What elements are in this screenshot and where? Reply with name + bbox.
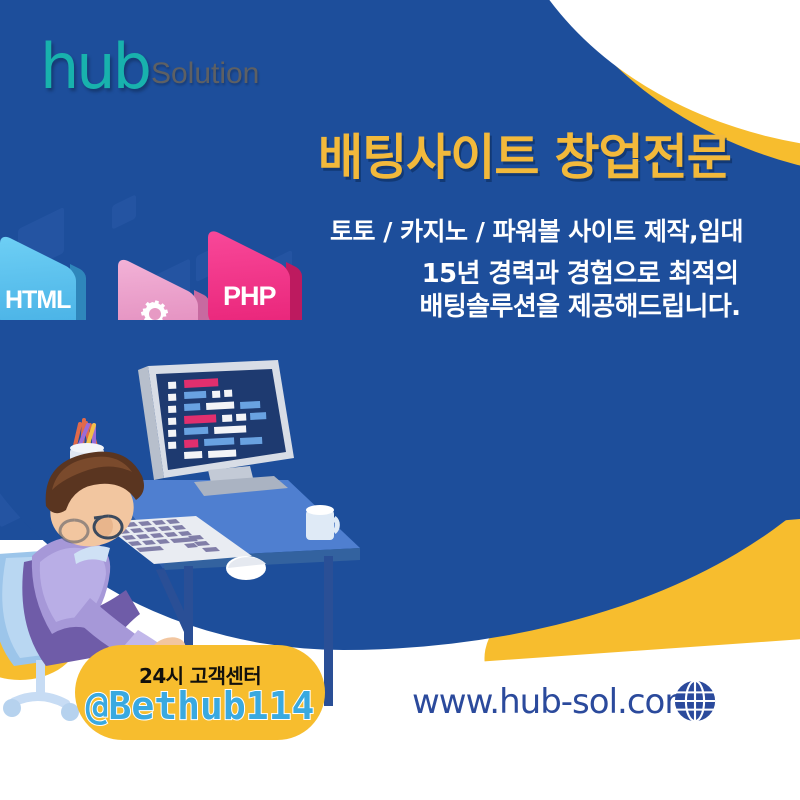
poster-canvas: hub Solution 배팅사이트 창업전문 토토 / 카지노 / 파워볼 사…: [0, 0, 800, 800]
logo-wordmark-solution: Solution: [151, 59, 259, 89]
deco-diamond: [112, 194, 136, 230]
contact-pill[interactable]: 24시 고객센터 @Bethub114: [75, 645, 325, 740]
globe-icon: [672, 678, 718, 724]
brand-logo: hub Solution: [40, 42, 259, 92]
website-url[interactable]: www.hub-sol.com: [412, 682, 696, 722]
pitch-text: 15년 경력과 경험으로 최적의 배팅솔루션을 제공해드립니다.: [370, 258, 790, 325]
tech-badge-label: HTML: [5, 285, 70, 314]
page-subtitle: 토토 / 카지노 / 파워볼 사이트 제작,임대: [330, 212, 790, 248]
tech-badge-label: PHP: [223, 281, 276, 312]
logo-wordmark-hub: hub: [40, 42, 149, 92]
pitch-line-1: 15년 경력과 경험으로 최적의: [370, 258, 790, 291]
messenger-handle[interactable]: @Bethub114: [86, 687, 315, 725]
page-title: 배팅사이트 창업전문: [318, 118, 784, 189]
